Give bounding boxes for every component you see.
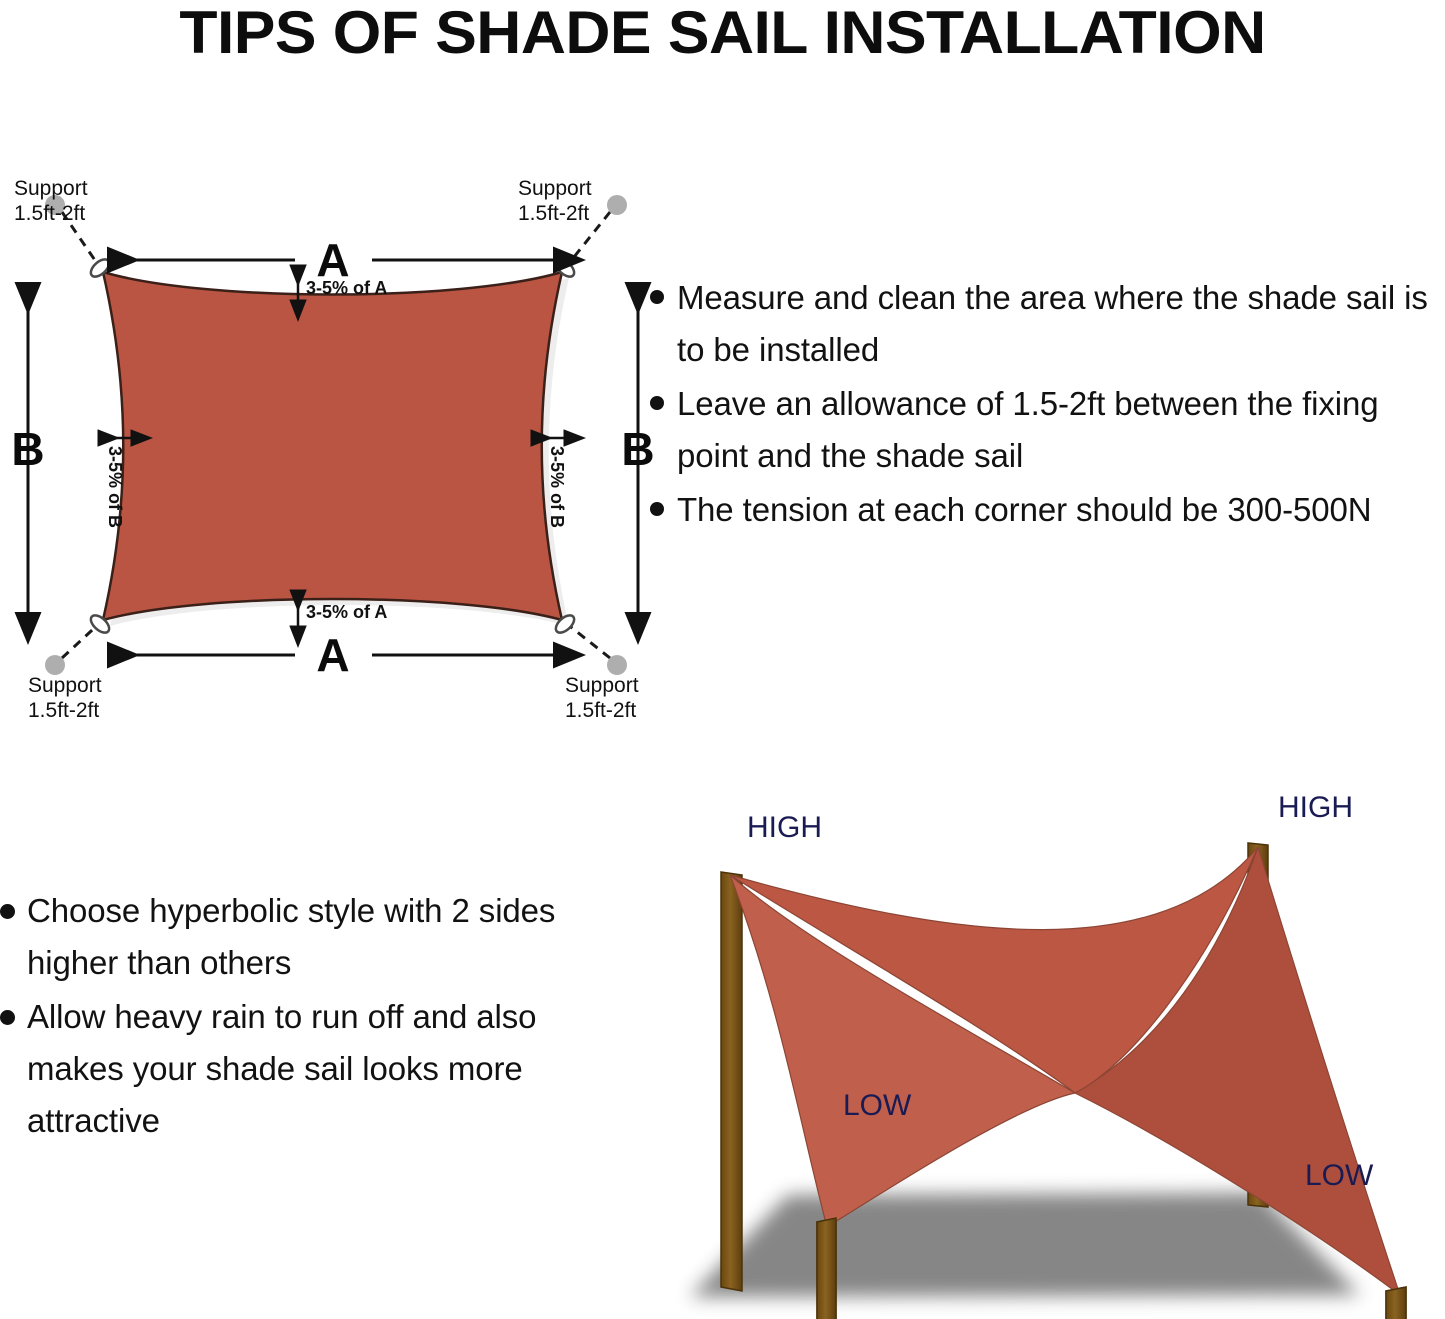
- support-label-top-right: Support 1.5ft-2ft: [518, 177, 592, 225]
- support-label-bottom-right: Support 1.5ft-2ft: [565, 674, 639, 722]
- support-dot-bottom-right: [607, 655, 627, 675]
- shade-sail-shape: [103, 272, 562, 620]
- support-label-line2: 1.5ft-2ft: [518, 202, 589, 225]
- list-item-text: The tension at each corner should be 300…: [677, 484, 1445, 536]
- bullet-dot-icon: [650, 290, 664, 304]
- rect-sail-diagram: A A B B 3-5% of A 3-5% of A: [0, 150, 660, 730]
- list-item: The tension at each corner should be 300…: [650, 484, 1445, 536]
- post-label-front-left: LOW: [843, 1089, 912, 1122]
- back-left-post: [721, 872, 742, 1291]
- list-item-text: Allow heavy rain to run off and also mak…: [27, 991, 625, 1147]
- list-item-text: Choose hyperbolic style with 2 sides hig…: [27, 885, 625, 989]
- list-item-text: Measure and clean the area where the sha…: [677, 272, 1445, 376]
- support-label-line1: Support: [28, 674, 102, 697]
- tips-list-bottom: Choose hyperbolic style with 2 sides hig…: [0, 885, 625, 1149]
- list-item: Measure and clean the area where the sha…: [650, 272, 1445, 376]
- dimension-B-left: B: [11, 285, 44, 615]
- support-dot-top-right: [607, 195, 627, 215]
- infographic-page: TIPS OF SHADE SAIL INSTALLATION: [0, 0, 1445, 1319]
- dimension-label-B-left: B: [11, 423, 44, 475]
- support-label-line2: 1.5ft-2ft: [565, 699, 636, 722]
- list-item: Choose hyperbolic style with 2 sides hig…: [0, 885, 625, 989]
- curve-depth-label-top: 3-5% of A: [306, 278, 387, 298]
- dimension-A-bottom: A: [110, 629, 556, 681]
- list-item: Allow heavy rain to run off and also mak…: [0, 991, 625, 1147]
- bullet-dot-icon: [0, 1010, 15, 1025]
- page-title: TIPS OF SHADE SAIL INSTALLATION: [0, 2, 1445, 64]
- post-label-front-right: LOW: [1305, 1159, 1374, 1192]
- bullet-dot-icon: [0, 904, 15, 919]
- support-label-line2: 1.5ft-2ft: [14, 202, 85, 225]
- ground-shadow: [690, 1193, 1360, 1297]
- list-item: Leave an allowance of 1.5-2ft between th…: [650, 378, 1445, 482]
- hypar-sail-diagram: HIGH HIGH LOW LOW: [660, 775, 1445, 1319]
- front-right-post-overlay: [1386, 1287, 1406, 1319]
- curve-depth-label-bottom: 3-5% of A: [306, 602, 387, 622]
- support-label-line1: Support: [14, 177, 88, 200]
- support-label-line1: Support: [565, 674, 639, 697]
- list-item-text: Leave an allowance of 1.5-2ft between th…: [677, 378, 1445, 482]
- support-label-bottom-left: Support 1.5ft-2ft: [28, 674, 102, 722]
- support-label-line1: Support: [518, 177, 592, 200]
- post-label-back-left: HIGH: [747, 811, 822, 844]
- bullet-dot-icon: [650, 502, 664, 516]
- curve-depth-label-right: 3-5% of B: [547, 446, 567, 528]
- bullet-dot-icon: [650, 396, 664, 410]
- front-left-post-overlay: [817, 1218, 836, 1319]
- curve-depth-label-left: 3-5% of B: [105, 446, 125, 528]
- post-label-back-right: HIGH: [1278, 791, 1353, 824]
- support-label-line2: 1.5ft-2ft: [28, 699, 99, 722]
- dimension-label-A-bottom: A: [316, 629, 349, 681]
- tips-list-top: Measure and clean the area where the sha…: [650, 272, 1445, 538]
- support-dot-bottom-left: [45, 655, 65, 675]
